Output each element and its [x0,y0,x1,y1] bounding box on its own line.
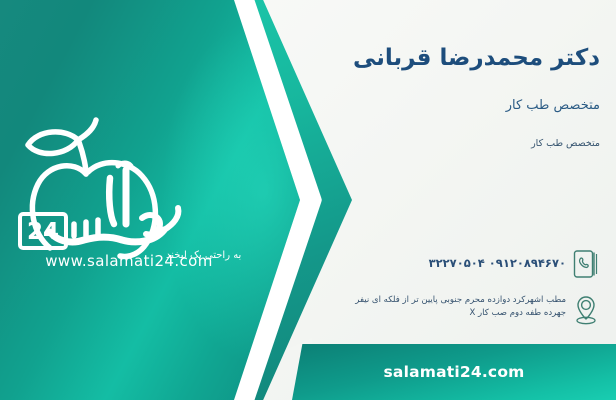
doctor-specialty: متخصص طب کار [316,98,600,113]
svg-text:24: 24 [27,219,59,245]
address-text-wrap: مطب اشهرکرد دوازده محرم جنوبی پایین تر ا… [310,291,566,320]
business-card: 24 به راحتی یک لبخند www.salamati24.com … [0,0,616,400]
address-line-1: مطب اشهرکرد دوازده محرم جنوبی پایین تر ا… [314,294,566,307]
doctor-specialty-secondary: متخصص طب کار [316,138,600,149]
footer-bar: salamati24.com [292,344,616,400]
doctor-name: دکتر محمدرضا قربانی [316,44,600,73]
phone-book-icon [566,245,606,283]
card-content: دکتر محمدرضا قربانی متخصص طب کار متخصص ط… [300,0,616,400]
contact-row-address: مطب اشهرکرد دوازده محرم جنوبی پایین تر ا… [310,291,606,329]
contact-row-phone: ۳۲۲۷۰۵۰۴ ۰۹۱۲۰۸۹۴۶۷۰ [310,245,606,283]
map-pin-icon [566,291,606,329]
phone-text-wrap: ۳۲۲۷۰۵۰۴ ۰۹۱۲۰۸۹۴۶۷۰ [310,245,566,270]
logo-website: www.salamati24.com [22,252,236,270]
phone-numbers[interactable]: ۳۲۲۷۰۵۰۴ ۰۹۱۲۰۸۹۴۶۷۰ [314,248,566,270]
address-line-2: جهرده طفه دوم صب کار X [314,307,566,320]
contact-block: ۳۲۲۷۰۵۰۴ ۰۹۱۲۰۸۹۴۶۷۰ مطب اشهرکرد دوازده … [310,245,606,337]
brand-logo: 24 به راحتی یک لبخند www.salamati24.com [14,112,244,272]
apple-outline-icon: 24 به راحتی یک لبخند [14,112,244,272]
footer-website[interactable]: salamati24.com [383,363,524,381]
